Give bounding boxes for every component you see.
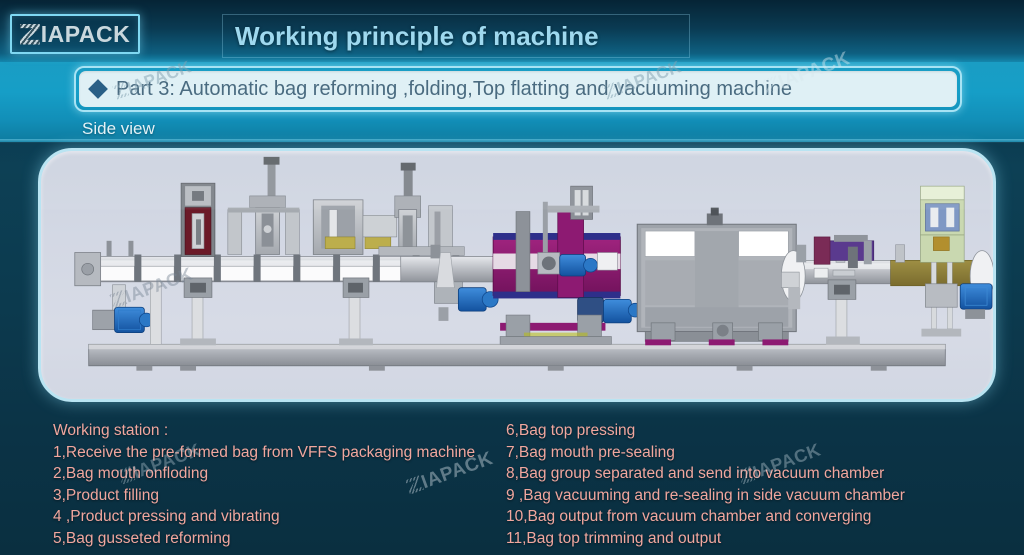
subtitle-text: Part 3: Automatic bag reforming ,folding… xyxy=(116,78,792,101)
station-item: 10,Bag output from vacuum chamber and co… xyxy=(506,506,905,528)
brand-logo-text: IAPACK xyxy=(20,21,130,48)
station-item: 3,Product filling xyxy=(53,485,475,507)
conveyor-support-legs-left xyxy=(150,278,373,345)
brand-logo: IAPACK xyxy=(10,14,140,54)
station-item: 4 ,Product pressing and vibrating xyxy=(53,506,475,528)
outfeed-drive-motor xyxy=(960,284,992,319)
station-item: 8,Bag group separated and send into vacu… xyxy=(506,463,905,485)
subtitle-banner: Part 3: Automatic bag reforming ,folding… xyxy=(74,66,962,112)
subtitle-banner-inner: Part 3: Automatic bag reforming ,folding… xyxy=(79,71,957,107)
brand-logo-label: IAPACK xyxy=(41,21,130,48)
working-stations-left-column: Working station : 1,Receive the pre-form… xyxy=(53,420,475,549)
station-item: 1,Receive the pre-formed bag from VFFS p… xyxy=(53,442,475,464)
station-item: 9 ,Bag vacuuming and re-sealing in side … xyxy=(506,485,905,507)
station-item: 5,Bag gusseted reforming xyxy=(53,528,475,550)
machine-diagram-panel xyxy=(38,148,996,402)
station-item: 11,Bag top trimming and output xyxy=(506,528,905,550)
infeed-drive-motor xyxy=(93,285,154,333)
working-station-heading: Working station : xyxy=(53,420,475,442)
machine-diagram-svg xyxy=(41,151,993,399)
station-item: 6,Bag top pressing xyxy=(506,420,905,442)
slide-root: IAPACK Working principle of machine Part… xyxy=(0,0,1024,555)
logo-z-icon xyxy=(20,24,40,45)
diamond-icon xyxy=(88,79,108,99)
page-title-frame: Working principle of machine xyxy=(222,14,690,58)
side-view-label: Side view xyxy=(82,119,155,139)
machine-base-frame xyxy=(89,344,946,370)
working-stations-right-column: 6,Bag top pressing 7,Bag mouth pre-seali… xyxy=(506,420,905,549)
station-vacuum-feed-purple xyxy=(493,186,642,344)
station-item: 2,Bag mouth onfloding xyxy=(53,463,475,485)
conveyor-support-legs-right xyxy=(826,280,860,344)
station-item: 7,Bag mouth pre-sealing xyxy=(506,442,905,464)
vacuum-chamber xyxy=(637,208,796,346)
page-title: Working principle of machine xyxy=(223,21,599,52)
